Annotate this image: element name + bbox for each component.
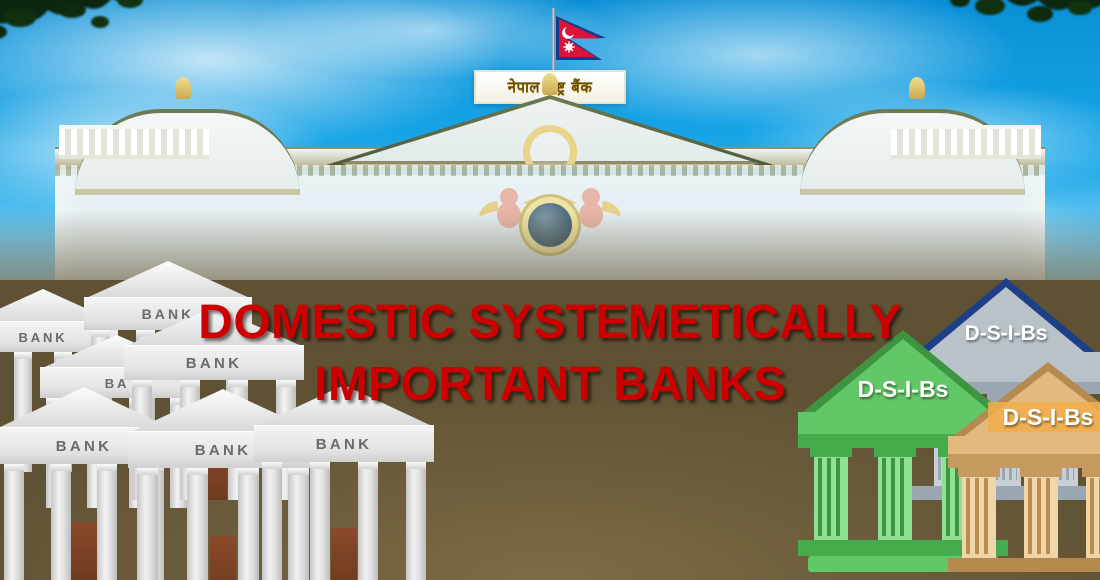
- pillar-capital: [1082, 468, 1100, 477]
- finial-left: [175, 77, 191, 99]
- pillar-capital: [810, 448, 852, 457]
- finial-center: [542, 73, 558, 95]
- bank-steps: [948, 558, 1100, 572]
- pillar-capital: [874, 448, 916, 457]
- pillar-capital: [1020, 468, 1062, 477]
- tree-foliage-left-icon: [0, 0, 210, 90]
- finial-right: [909, 77, 925, 99]
- bank-door: [71, 522, 97, 580]
- bank-building-7: BANK: [254, 385, 434, 580]
- dsib-label: D-S-I-Bs: [948, 404, 1100, 431]
- bank-door: [210, 536, 236, 580]
- bank-label: BANK: [56, 438, 113, 455]
- bank-label: BANK: [186, 355, 243, 372]
- column: [406, 462, 426, 580]
- column: [137, 468, 158, 580]
- gray-bank-cluster: BANK BANK: [0, 280, 422, 580]
- balustrade-right: [891, 125, 1041, 159]
- column: [310, 462, 330, 580]
- dsib-bank-tan: D-S-I-Bs: [948, 362, 1100, 580]
- pillar-flutes: [1090, 478, 1100, 554]
- bank-door: [331, 528, 357, 580]
- column: [187, 468, 208, 580]
- pillar: [1024, 468, 1058, 564]
- bank-label-bar: BANK: [124, 345, 304, 380]
- bank-label-bar: BANK: [254, 425, 434, 462]
- central-pediment: [340, 99, 760, 164]
- bank-label: BANK: [195, 442, 252, 459]
- nepal-flag-icon: [554, 14, 616, 75]
- column: [97, 464, 117, 580]
- pillar: [878, 448, 912, 546]
- pediment: [84, 261, 252, 299]
- pediment: [254, 385, 434, 427]
- column-row: [254, 462, 434, 580]
- tree-foliage-right-icon: [930, 0, 1100, 80]
- column: [358, 462, 378, 580]
- banner-image: नेपाल राष्ट्र बैंक: [0, 0, 1100, 580]
- pillar-flutes: [882, 458, 908, 536]
- pillar: [814, 448, 848, 546]
- pillar: [1086, 468, 1100, 564]
- column: [51, 464, 71, 580]
- pillar-flutes: [818, 458, 844, 536]
- pediment: [124, 307, 304, 347]
- bank-label: BANK: [316, 436, 373, 453]
- column: [262, 462, 282, 580]
- pillar-flutes: [1028, 478, 1054, 554]
- pillar: [962, 468, 996, 564]
- balustrade-left: [59, 125, 209, 159]
- entablature: [948, 454, 1100, 468]
- column: [4, 464, 24, 580]
- pillar-capital: [958, 468, 1000, 477]
- pillar-flutes: [966, 478, 992, 554]
